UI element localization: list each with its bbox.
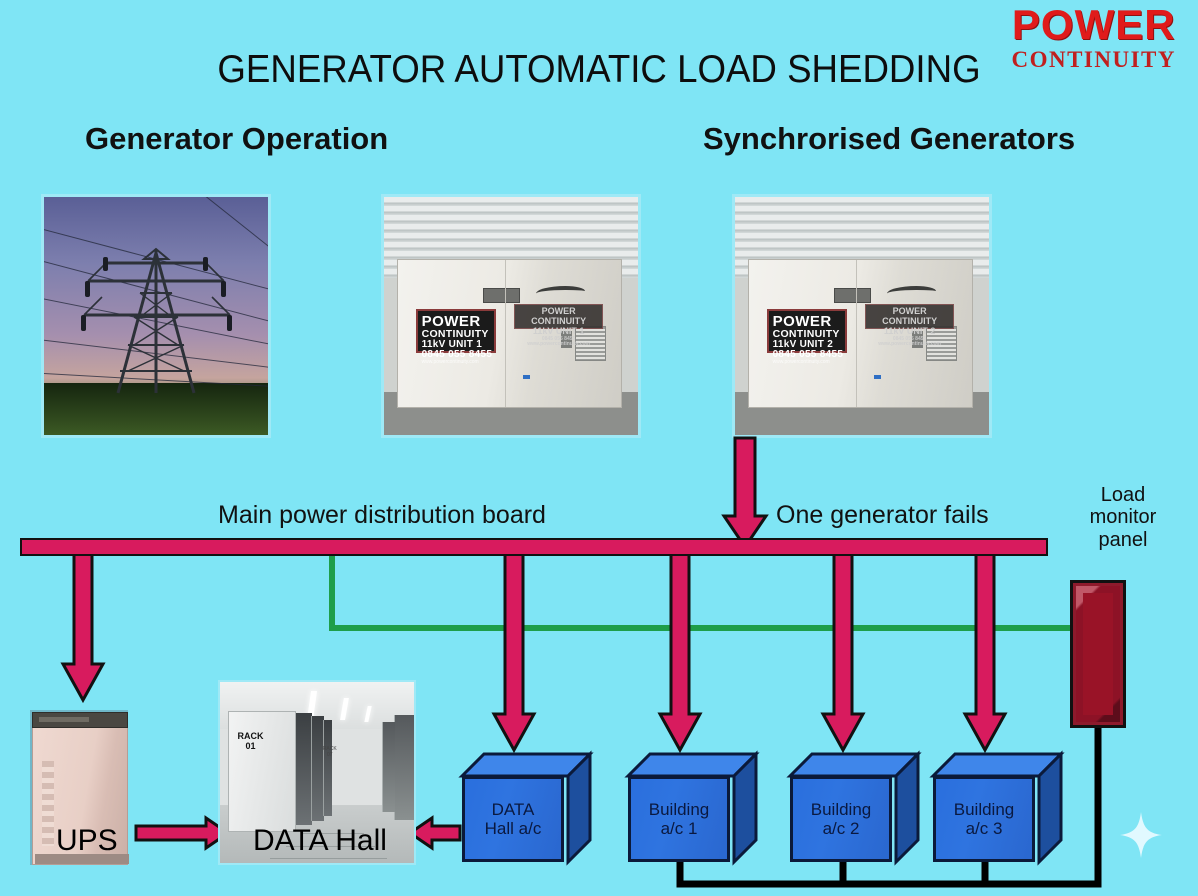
data-hall-rack-row-right-a — [394, 715, 414, 820]
datahall-ac-feed-arrow — [494, 552, 534, 750]
building-ac-2-feed-arrow — [823, 552, 863, 750]
cube-label-line2: a/c 2 — [823, 819, 860, 838]
cube-label-line2: a/c 3 — [966, 819, 1003, 838]
ups-top-panel — [32, 712, 128, 728]
rack-label-far-line2: 07 — [323, 753, 337, 759]
ups-to-datahall-arrow — [136, 818, 228, 848]
building-ac-1-feed-arrow — [660, 552, 700, 750]
data-hall-rack-front-door — [228, 711, 296, 832]
label-one-generator-fails: One generator fails — [776, 501, 989, 530]
data-hall-rack-row-a — [294, 713, 312, 825]
cube-label-line1: Building — [649, 800, 710, 819]
slide-canvas: POWER CONTINUITY GENERATOR AUTOMATIC LOA… — [0, 0, 1198, 896]
sparkle-icon — [1120, 812, 1162, 858]
label-load-monitor-panel: Load monitor panel — [1075, 484, 1171, 551]
data-hall-rack-row-right-b — [382, 722, 395, 813]
datahall-ac-to-datahall-arrow — [410, 818, 460, 848]
load-monitor-panel-face — [1083, 593, 1113, 715]
load-monitor-panel[interactable] — [1070, 580, 1126, 728]
ups-vent-slots — [42, 761, 54, 846]
cube-label-line2: Hall a/c — [485, 819, 542, 838]
load-monitor-label-line2: monitor — [1075, 506, 1171, 528]
cube-label-line2: a/c 1 — [661, 819, 698, 838]
load-monitor-label-line1: Load — [1075, 484, 1171, 506]
ups-feed-arrow — [63, 552, 103, 700]
building-ac-3-feed-arrow — [965, 552, 1005, 750]
cube-label: Building a/c 2 — [790, 776, 892, 862]
label-main-power-distribution-board: Main power distribution board — [218, 501, 546, 530]
cube-label-line1: Building — [954, 800, 1015, 819]
cube-label-line1: Building — [811, 800, 872, 819]
cube-label: Building a/c 3 — [933, 776, 1035, 862]
data-hall-rack-label-far: RACK 07 — [323, 747, 337, 758]
data-hall-rack-label: RACK 01 — [237, 731, 263, 752]
cube-label: Building a/c 1 — [628, 776, 730, 862]
cube-label-line1: DATA — [492, 800, 535, 819]
green-control-line — [332, 552, 1072, 628]
rack-label-line1: RACK — [237, 731, 263, 741]
data-hall-floor-line-1 — [270, 858, 386, 859]
label-data-hall: DATA Hall — [253, 824, 387, 858]
data-hall-rack-row-c — [323, 720, 332, 816]
rack-label-line2: 01 — [237, 741, 263, 751]
label-ups: UPS — [56, 824, 118, 858]
load-monitor-label-line3: panel — [1075, 529, 1171, 551]
main-power-distribution-busbar — [20, 538, 1048, 556]
cube-label: DATA Hall a/c — [462, 776, 564, 862]
generator-feed-arrow — [724, 438, 766, 547]
